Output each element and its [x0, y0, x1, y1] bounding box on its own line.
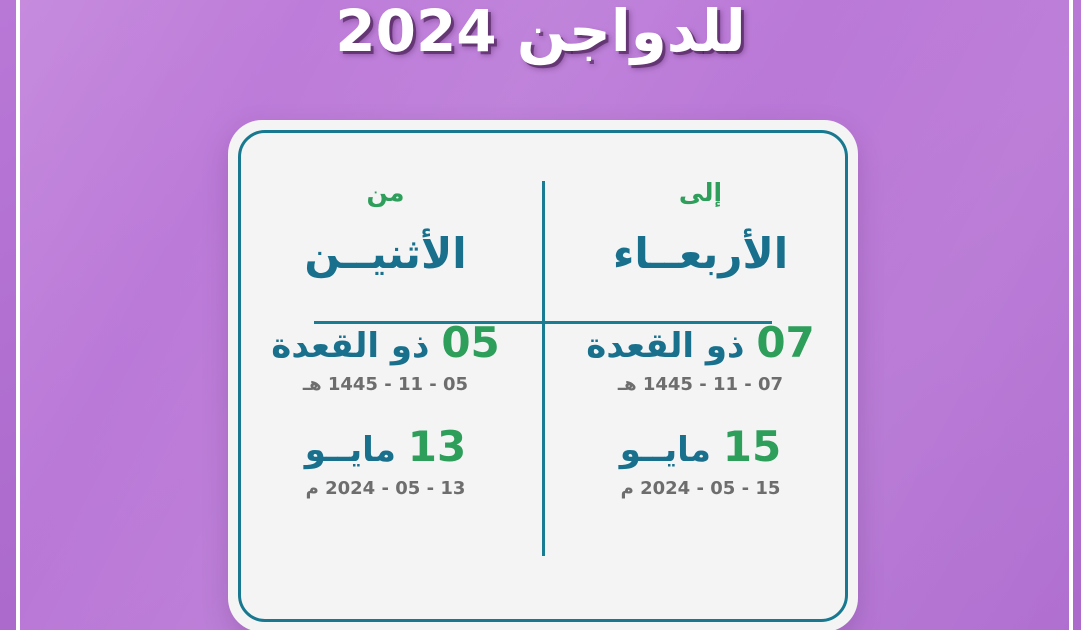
- column-label-to: إلى: [679, 178, 722, 208]
- hijri-month-to: ذو القعدة: [586, 326, 744, 366]
- card-columns: إلى الأربعــاء 07 ذو القعدة 07 - 11 - 14…: [228, 120, 858, 630]
- column-to: إلى الأربعــاء 07 ذو القعدة 07 - 11 - 14…: [543, 120, 858, 630]
- gregorian-full-from: 13 - 05 - 2024 م: [305, 478, 466, 500]
- weekday-to: الأربعــاء: [613, 228, 788, 280]
- gregorian-date-from: 13 مايــو 13 - 05 - 2024 م: [305, 426, 466, 500]
- gregorian-month-from: مايــو: [305, 430, 396, 470]
- card-body: إلى الأربعــاء 07 ذو القعدة 07 - 11 - 14…: [228, 120, 858, 630]
- date-range-card: إلى الأربعــاء 07 ذو القعدة 07 - 11 - 14…: [228, 120, 858, 630]
- frame-edge-right: [1073, 0, 1081, 630]
- hijri-full-from: 05 - 11 - 1445 هـ: [271, 374, 500, 396]
- gregorian-main-from: 13 مايــو: [305, 426, 466, 471]
- gregorian-day-from: 13: [408, 422, 466, 471]
- gregorian-date-to: 15 مايــو 15 - 05 - 2024 م: [620, 426, 781, 500]
- weekday-from: الأثنيــن: [304, 228, 466, 280]
- hijri-main-from: 05 ذو القعدة: [271, 322, 500, 367]
- gregorian-full-to: 15 - 05 - 2024 م: [620, 478, 781, 500]
- column-label-from: من: [367, 178, 405, 208]
- hijri-main-to: 07 ذو القعدة: [586, 322, 815, 367]
- hijri-full-to: 07 - 11 - 1445 هـ: [586, 374, 815, 396]
- column-from: من الأثنيــن 05 ذو القعدة 05 - 11 - 1445…: [228, 120, 543, 630]
- hijri-date-to: 07 ذو القعدة 07 - 11 - 1445 هـ: [586, 322, 815, 396]
- page-title: للدواجن 2024: [0, 0, 1081, 68]
- hijri-month-from: ذو القعدة: [271, 326, 429, 366]
- frame-stripe-right: [1069, 0, 1073, 630]
- hijri-day-to: 07: [756, 318, 814, 367]
- hijri-date-from: 05 ذو القعدة 05 - 11 - 1445 هـ: [271, 322, 500, 396]
- hijri-day-from: 05: [441, 318, 499, 367]
- gregorian-day-to: 15: [723, 422, 781, 471]
- frame-edge-left: [0, 0, 16, 630]
- gregorian-month-to: مايــو: [620, 430, 711, 470]
- gregorian-main-to: 15 مايــو: [620, 426, 781, 471]
- poster-root: للدواجن 2024 إلى الأربعــاء 07 ذو القعدة…: [0, 0, 1081, 630]
- frame-stripe-left: [16, 0, 20, 630]
